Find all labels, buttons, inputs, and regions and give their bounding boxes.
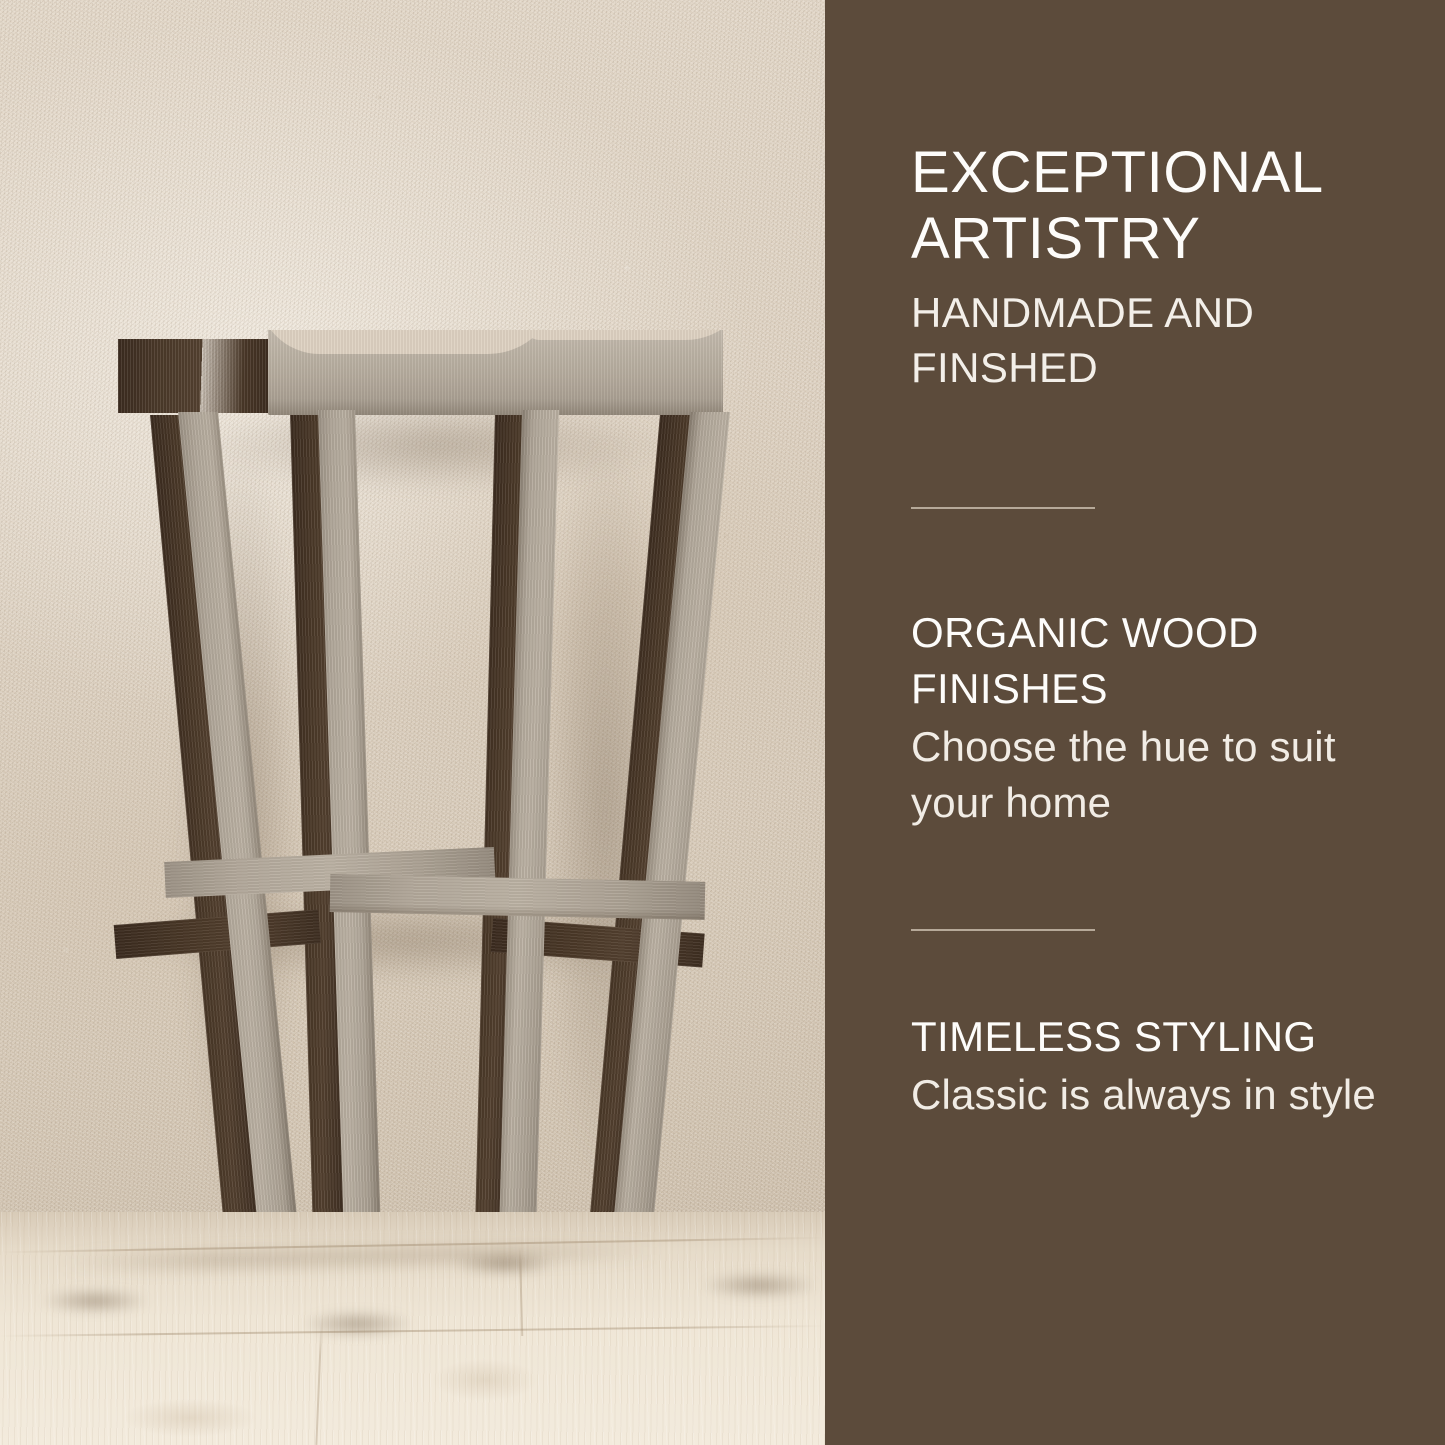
info-panel: EXCEPTIONAL ARTISTRY HANDMADE AND FINSHE… <box>825 0 1445 1445</box>
feature-2-title: TIMELESS STYLING <box>911 1009 1385 1065</box>
subheadline: HANDMADE AND FINSHED <box>911 286 1385 395</box>
foot-shadow <box>40 1288 150 1314</box>
marketing-banner: EXCEPTIONAL ARTISTRY HANDMADE AND FINSHE… <box>0 0 1445 1445</box>
feature-2-body: Classic is always in style <box>911 1067 1385 1123</box>
product-photo <box>0 0 825 1445</box>
floor-knot <box>430 1358 540 1402</box>
foot-shadow <box>300 1310 415 1338</box>
divider-2 <box>911 929 1095 931</box>
feature-1-body: Choose the hue to suit your home <box>911 719 1385 831</box>
floor-knot <box>120 1398 260 1438</box>
foot-shadow <box>455 1252 555 1276</box>
stool-front-stretcher-center <box>330 874 706 920</box>
foot-shadow <box>700 1272 818 1299</box>
stool-back-seat-endcap <box>118 339 278 413</box>
feature-1-title: ORGANIC WOOD FINISHES <box>911 605 1385 717</box>
stool-front-seat <box>268 330 723 415</box>
divider-1 <box>911 507 1095 509</box>
headline: EXCEPTIONAL ARTISTRY <box>911 0 1385 272</box>
